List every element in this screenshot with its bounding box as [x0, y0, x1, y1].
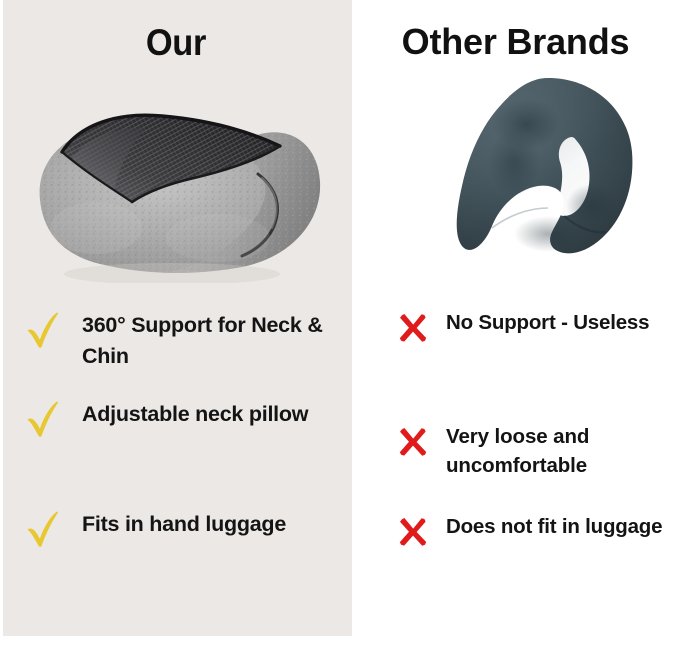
our-pillow-image [22, 78, 332, 283]
list-item: Fits in hand luggage [26, 509, 346, 553]
list-item: 360° Support for Neck & Chin [26, 310, 346, 371]
other-brands-features-list: No Support - Useless Very loose and unco… [398, 308, 676, 556]
list-item: Adjustable neck pillow [26, 399, 346, 443]
check-icon [26, 511, 60, 547]
check-icon [26, 312, 60, 348]
list-item: Very loose and uncomfortable [398, 422, 676, 480]
cross-icon [398, 517, 428, 547]
feature-label: 360° Support for Neck & Chin [82, 310, 340, 371]
list-item: Does not fit in luggage [398, 512, 676, 556]
comparison-infographic: Our Other Brands [0, 0, 679, 648]
feature-label: Very loose and uncomfortable [446, 422, 676, 480]
our-features-list: 360° Support for Neck & Chin Adjustable … [26, 310, 346, 553]
list-item: No Support - Useless [398, 308, 676, 352]
our-column-title: Our [12, 24, 339, 61]
feature-label: No Support - Useless [446, 308, 649, 337]
other-brands-column-title: Other Brands [352, 24, 679, 60]
feature-label: Adjustable neck pillow [82, 399, 308, 430]
other-brand-pillow-image [452, 66, 648, 286]
feature-label: Does not fit in luggage [446, 512, 662, 541]
cross-icon [398, 427, 428, 457]
cross-icon [398, 313, 428, 343]
check-icon [26, 401, 60, 437]
feature-label: Fits in hand luggage [82, 509, 286, 540]
